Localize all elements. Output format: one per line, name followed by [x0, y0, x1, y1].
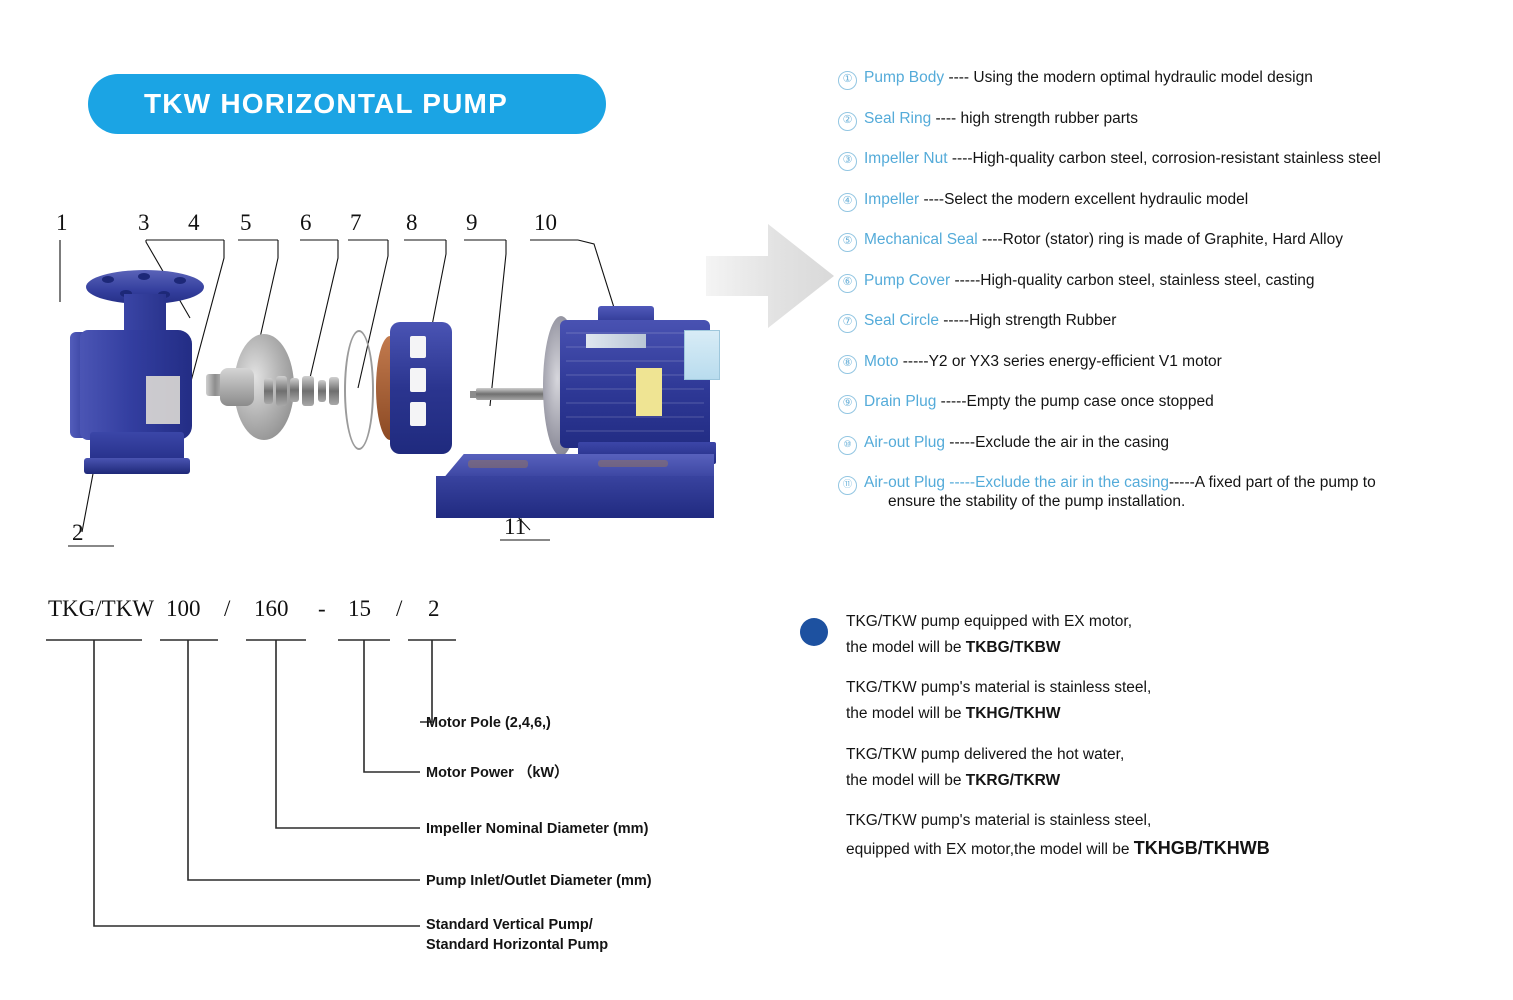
seal-circle-oring [344, 330, 374, 450]
legend-number-icon: ⑪ [838, 476, 857, 495]
legend-part-desc: -----High strength Rubber [939, 312, 1116, 329]
legend-item: ⑤ Mechanical Seal ----Rotor (stator) rin… [838, 230, 1498, 252]
nomen-label-impeller-diam: Impeller Nominal Diameter (mm) [426, 820, 648, 840]
legend-part-name: Mechanical Seal [864, 231, 978, 248]
page-title: TKW HORIZONTAL PUMP [88, 88, 508, 120]
callout-number-8: 8 [406, 210, 418, 236]
nomen-label-inlet-diam: Pump Inlet/Outlet Diameter (mm) [426, 872, 652, 892]
motor-sticker [684, 330, 720, 380]
note-model-code: TKHGB/TKHWB [1134, 838, 1270, 858]
callout-number-5: 5 [240, 210, 252, 236]
legend-number-icon: ⑥ [838, 274, 857, 293]
note-text: equipped with EX motor,the model will be [846, 841, 1134, 858]
legend-part-desc: -----Y2 or YX3 series energy-efficient V… [898, 353, 1221, 370]
legend-part-desc: ----High-quality carbon steel, corrosion… [948, 150, 1381, 167]
nomen-label-pump-type-1: Standard Vertical Pump/ [426, 916, 593, 936]
note-text: TKG/TKW pump equipped with EX motor, [846, 613, 1132, 630]
legend-part-name: Air-out Plug [864, 434, 945, 451]
legend-part-name: Drain Plug [864, 393, 936, 410]
legend-text: Air-out Plug -----Exclude the air in the… [864, 433, 1169, 452]
mechanical-seal-part [302, 376, 314, 406]
callout-number-11: 11 [504, 514, 526, 540]
pump-base-plate [84, 458, 190, 474]
legend-part-name: Seal Circle [864, 312, 939, 329]
legend-item: ③ Impeller Nut ----High-quality carbon s… [838, 149, 1498, 171]
legend-number-icon: ③ [838, 152, 857, 171]
legend-part-desc: ---- high strength rubber parts [931, 110, 1138, 127]
legend-item: ⑨ Drain Plug -----Empty the pump case on… [838, 392, 1498, 414]
note-line: TKG/TKW pump equipped with EX motor, [846, 612, 1420, 632]
right-arrow-icon [706, 222, 834, 330]
legend-number-icon: ⑨ [838, 395, 857, 414]
legend-part-desc: ----Rotor (stator) ring is made of Graph… [978, 231, 1343, 248]
note-line: TKG/TKW pump's material is stainless ste… [846, 811, 1420, 831]
legend-number-icon: ⑦ [838, 314, 857, 333]
callout-number-7: 7 [350, 210, 362, 236]
nomen-label-motor-pole: Motor Pole (2,4,6,) [426, 714, 551, 734]
note-text: TKG/TKW pump's material is stainless ste… [846, 679, 1151, 696]
pump-cover-slot [410, 368, 426, 392]
callout-number-2: 2 [72, 520, 84, 546]
mechanical-seal-part [318, 380, 326, 402]
base-frame-marking [468, 460, 528, 468]
legend-item: ⑥ Pump Cover -----High-quality carbon st… [838, 271, 1498, 293]
nomen-label-motor-power: Motor Power （kW） [426, 764, 569, 784]
note-line: the model will be TKBG/TKBW [846, 638, 1420, 658]
note-line: equipped with EX motor,the model will be… [846, 837, 1420, 860]
legend-part-desc: ---- Using the modern optimal hydraulic … [944, 69, 1313, 86]
legend-part-name: Pump Cover [864, 272, 950, 289]
legend-item: ① Pump Body ---- Using the modern optima… [838, 68, 1498, 90]
legend-number-icon: ⑧ [838, 355, 857, 374]
legend-item: ⑧ Moto -----Y2 or YX3 series energy-effi… [838, 352, 1498, 374]
legend-part-name: Air-out Plug -----Exclude the air in the… [864, 474, 1169, 491]
legend-number-icon: ④ [838, 193, 857, 212]
legend-number-icon: ② [838, 112, 857, 131]
legend-part-name: Seal Ring [864, 110, 931, 127]
legend-text: Impeller ----Select the modern excellent… [864, 190, 1248, 209]
legend-part-desc: -----High-quality carbon steel, stainles… [950, 272, 1314, 289]
note-line: the model will be TKRG/TKRW [846, 771, 1420, 791]
legend-part-name: Impeller [864, 191, 919, 208]
model-code-nomenclature: TKG/TKW 100 / 160 - 15 / 2 Motor Pole (2… [38, 596, 738, 966]
legend-item: ⑩ Air-out Plug -----Exclude the air in t… [838, 433, 1498, 455]
legend-item-11: ⑪ Air-out Plug -----Exclude the air in t… [838, 473, 1498, 512]
mechanical-seal-part [276, 376, 287, 406]
bullet-dot-icon [800, 618, 828, 646]
note-model-code: TKHG/TKHW [966, 705, 1061, 722]
base-frame [436, 476, 714, 518]
impeller-hub [220, 368, 254, 406]
legend-item: ② Seal Ring ---- high strength rubber pa… [838, 109, 1498, 131]
page-title-banner: TKW HORIZONTAL PUMP [88, 74, 606, 134]
note-text: the model will be [846, 772, 966, 789]
legend-text: Mechanical Seal ----Rotor (stator) ring … [864, 230, 1343, 249]
note-model-code: TKRG/TKRW [966, 772, 1060, 789]
legend-text: Moto -----Y2 or YX3 series energy-effici… [864, 352, 1222, 371]
legend-part-name: Moto [864, 353, 898, 370]
note-model-code: TKBG/TKBW [966, 639, 1061, 656]
exploded-view-diagram: 1 3 4 5 6 7 8 9 10 2 11 [38, 210, 698, 560]
legend-part-desc-line2: ensure the stability of the pump install… [888, 492, 1376, 511]
callout-number-1: 1 [56, 210, 68, 236]
mechanical-seal-part [264, 378, 273, 404]
motor-terminal-plate [636, 368, 662, 416]
legend-part-desc: -----Empty the pump case once stopped [936, 393, 1213, 410]
model-variant-notes: TKG/TKW pump equipped with EX motor, the… [800, 612, 1420, 880]
base-frame-marking [598, 460, 668, 467]
legend-part-desc: -----Exclude the air in the casing [945, 434, 1169, 451]
legend-item: ④ Impeller ----Select the modern excelle… [838, 190, 1498, 212]
mechanical-seal-part [290, 378, 299, 402]
note-text: TKG/TKW pump's material is stainless ste… [846, 812, 1151, 829]
nomenclature-leader-lines [38, 596, 738, 966]
legend-part-name: Impeller Nut [864, 150, 948, 167]
legend-text: Seal Ring ---- high strength rubber part… [864, 109, 1138, 128]
legend-number-icon: ⑩ [838, 436, 857, 455]
mechanical-seal-part [329, 377, 339, 405]
note-text: the model will be [846, 705, 966, 722]
legend-part-desc: -----A fixed part of the pump to [1169, 474, 1376, 491]
callout-number-10: 10 [534, 210, 557, 236]
callout-number-9: 9 [466, 210, 478, 236]
motor-label-strip [586, 334, 646, 348]
note-line: TKG/TKW pump delivered the hot water, [846, 745, 1420, 765]
legend-text: Drain Plug -----Empty the pump case once… [864, 392, 1214, 411]
notes-body: TKG/TKW pump equipped with EX motor, the… [846, 612, 1420, 860]
legend-text: Seal Circle -----High strength Rubber [864, 311, 1116, 330]
legend-part-desc: ----Select the modern excellent hydrauli… [919, 191, 1248, 208]
motor-shaft [476, 388, 550, 400]
pump-cover-slot [410, 402, 426, 426]
note-text: the model will be [846, 639, 966, 656]
callout-number-4: 4 [188, 210, 200, 236]
legend-text: Air-out Plug -----Exclude the air in the… [864, 473, 1376, 512]
nomen-label-pump-type-2: Standard Horizontal Pump [426, 936, 608, 956]
callout-number-6: 6 [300, 210, 312, 236]
legend-item: ⑦ Seal Circle -----High strength Rubber [838, 311, 1498, 333]
legend-text: Impeller Nut ----High-quality carbon ste… [864, 149, 1381, 168]
pump-nameplate [146, 376, 180, 424]
note-text: TKG/TKW pump delivered the hot water, [846, 746, 1124, 763]
callout-number-3: 3 [138, 210, 150, 236]
legend-number-icon: ① [838, 71, 857, 90]
legend-text: Pump Body ---- Using the modern optimal … [864, 68, 1313, 87]
legend-number-icon: ⑤ [838, 233, 857, 252]
legend-text: Pump Cover -----High-quality carbon stee… [864, 271, 1315, 290]
legend-part-name: Pump Body [864, 69, 944, 86]
parts-legend: ① Pump Body ---- Using the modern optima… [838, 68, 1498, 530]
note-line: the model will be TKHG/TKHW [846, 704, 1420, 724]
pump-cover-slot [410, 336, 426, 358]
note-line: TKG/TKW pump's material is stainless ste… [846, 678, 1420, 698]
